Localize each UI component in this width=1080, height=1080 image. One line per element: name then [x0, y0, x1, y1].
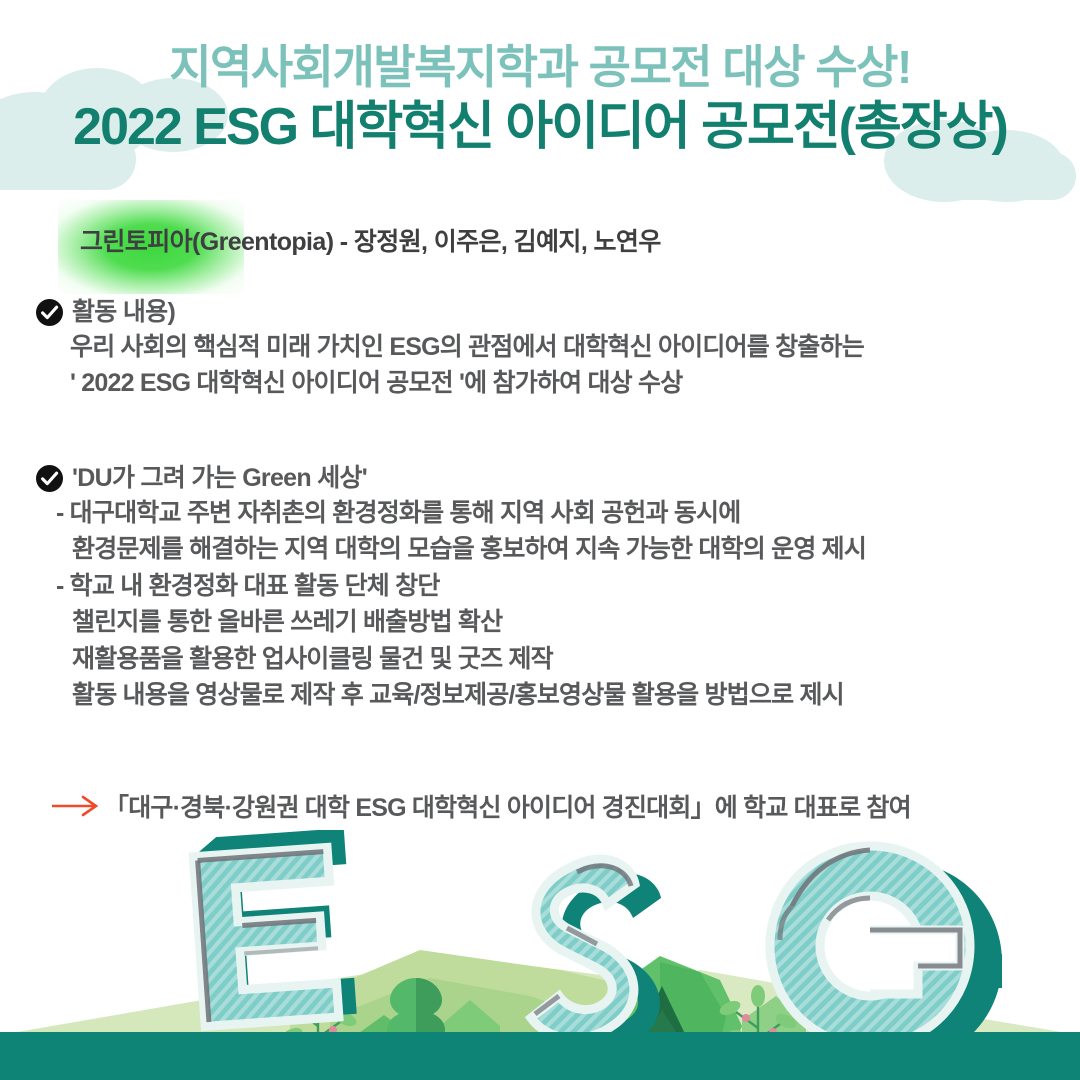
title-line-primary: 지역사회개발복지학과 공모전 대상 수상! — [0, 40, 1080, 94]
arrow-right-icon — [50, 794, 102, 818]
section-line: 환경문제를 해결하는 지역 대학의 모습을 홍보하여 지속 가능한 대학의 운영… — [0, 531, 1080, 568]
section-line: 우리 사회의 핵심적 미래 가치인 ESG의 관점에서 대학혁신 아이디어를 창… — [0, 329, 1080, 366]
section-line: - 대구대학교 주변 자취촌의 환경정화를 통해 지역 사회 공헌과 동시에 — [0, 495, 1080, 532]
section-heading: 'DU가 그려 가는 Green 세상' — [72, 462, 367, 495]
section-line: - 학교 내 환경정화 대표 활동 단체 창단 — [0, 568, 1080, 605]
team-row: 그린토피아(Greentopia) - 장정원, 이주은, 김예지, 노연우 — [0, 222, 1080, 258]
section-line: 챌린지를 통한 올바른 쓰레기 배출방법 확산 — [0, 604, 1080, 641]
page-title: 지역사회개발복지학과 공모전 대상 수상! 2022 ESG 대학혁신 아이디어… — [0, 40, 1080, 160]
bullet-heading-row: 활동 내용) — [0, 296, 1080, 329]
footer-participation-row: 「대구·경북·강원권 대학 ESG 대학혁신 아이디어 경진대회」에 학교 대표… — [0, 788, 1080, 824]
section-du-green-world: 'DU가 그려 가는 Green 세상' - 대구대학교 주변 자취촌의 환경정… — [0, 462, 1080, 714]
team-members-text: 그린토피아(Greentopia) - 장정원, 이주은, 김예지, 노연우 — [0, 222, 1080, 258]
title-line-secondary: 2022 ESG 대학혁신 아이디어 공모전(총장상) — [0, 96, 1080, 159]
footer-text: 「대구·경북·강원권 대학 ESG 대학혁신 아이디어 경진대회」에 학교 대표… — [104, 788, 911, 824]
section-activity-content: 활동 내용) 우리 사회의 핵심적 미래 가치인 ESG의 관점에서 대학혁신 … — [0, 296, 1080, 402]
section-line: 활동 내용을 영상물로 제작 후 교육/정보제공/홍보영상물 활용을 방법으로 … — [0, 677, 1080, 714]
check-circle-icon — [36, 299, 63, 326]
esg-illustration — [0, 830, 1080, 1080]
section-line: 재활용품을 활용한 업사이클링 물건 및 굿즈 제작 — [0, 641, 1080, 678]
section-line: ' 2022 ESG 대학혁신 아이디어 공모전 '에 참가하여 대상 수상 — [0, 365, 1080, 402]
section-heading: 활동 내용) — [72, 296, 175, 329]
check-circle-icon — [36, 465, 63, 492]
bullet-heading-row: 'DU가 그려 가는 Green 세상' — [0, 462, 1080, 495]
